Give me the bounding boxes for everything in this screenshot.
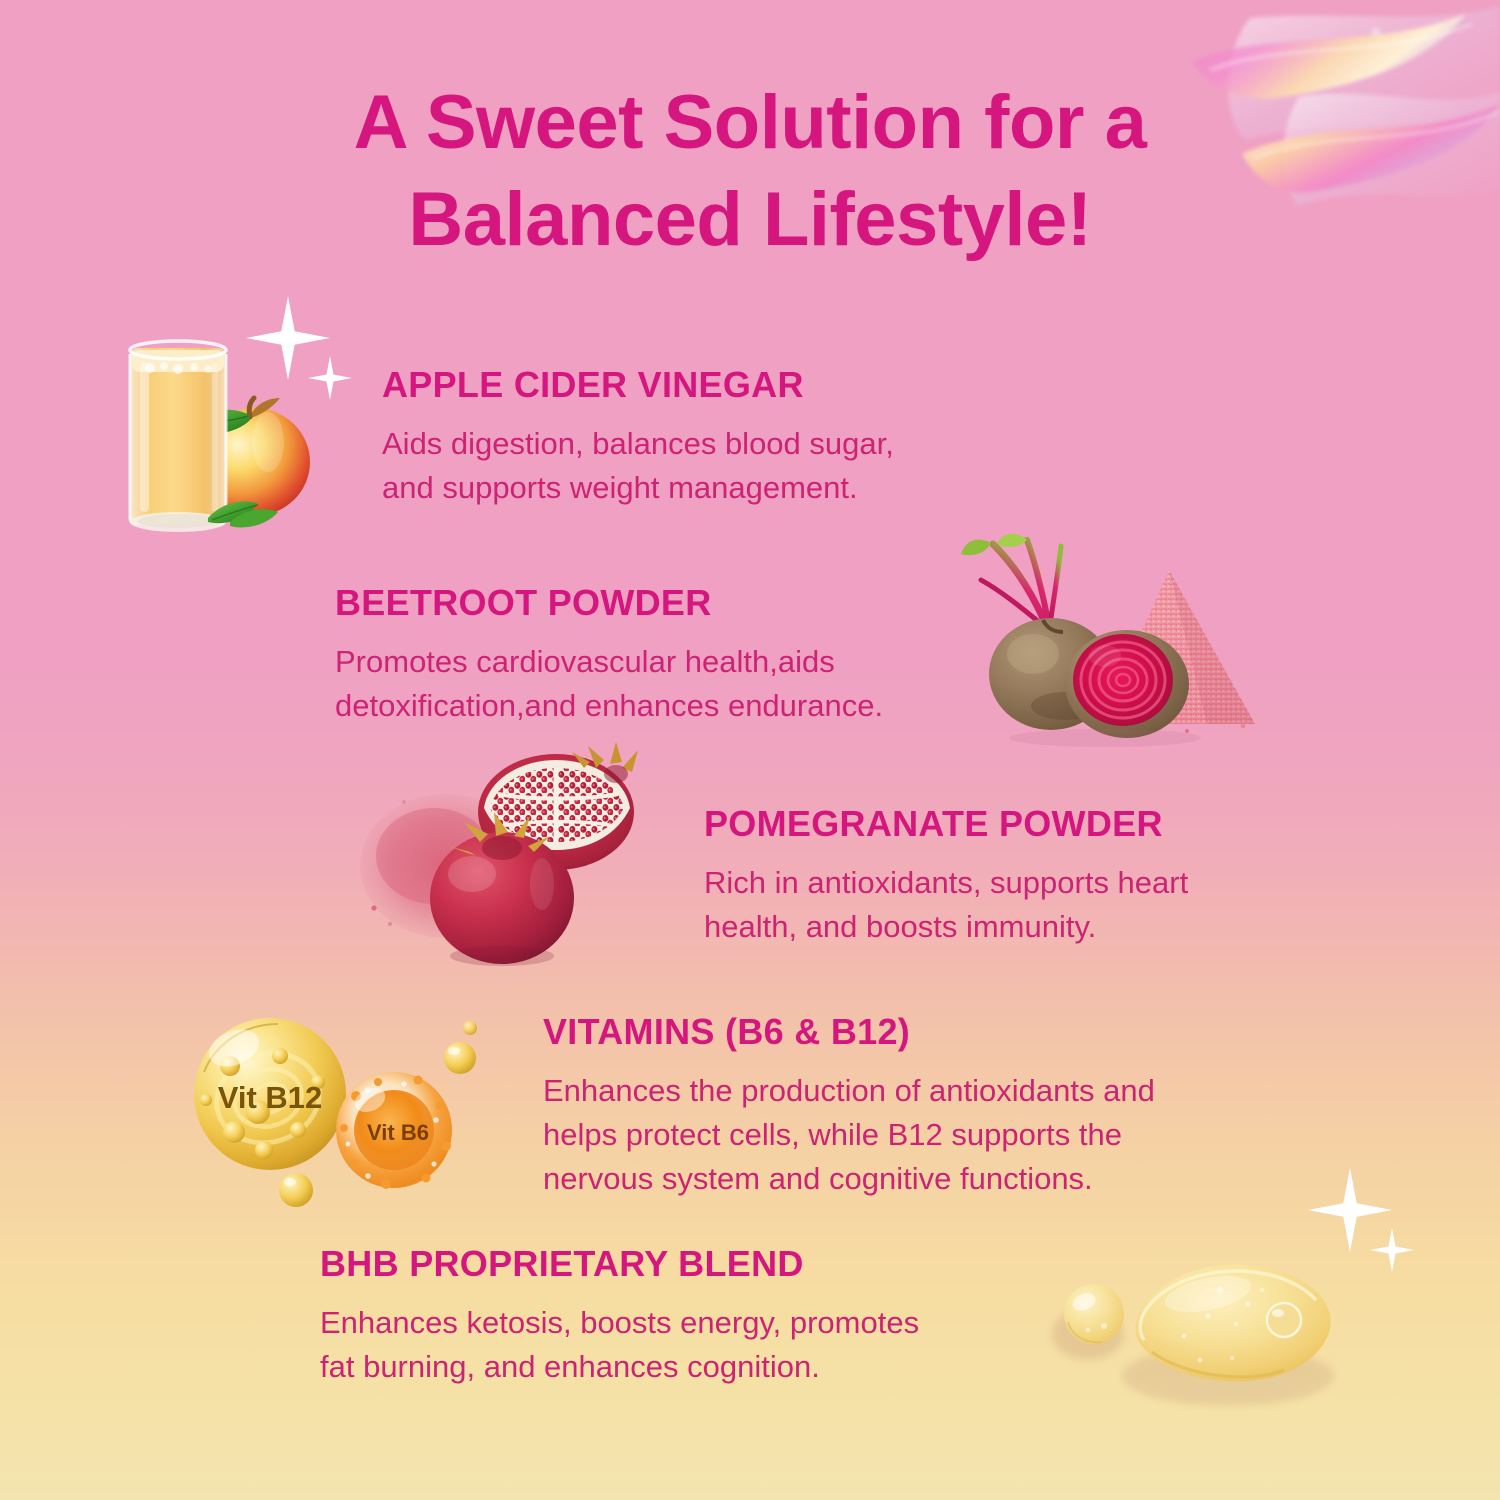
ingredient-pomegranate-powder: POMEGRANATE POWDER Rich in antioxidants,…: [704, 803, 1324, 949]
beetroot-powder-image: [955, 528, 1270, 748]
bhb-golden-serum-drop-image: [1032, 1248, 1352, 1413]
ingredient-bhb-proprietary-blend: BHB PROPRIETARY BLEND Enhances ketosis, …: [320, 1243, 1060, 1389]
ingredient-description: Rich in antioxidants, supports heart hea…: [704, 861, 1324, 949]
ingredient-description: Promotes cardiovascular health,aids deto…: [335, 640, 1035, 728]
ingredient-name: POMEGRANATE POWDER: [704, 803, 1324, 845]
vitamin-capsule-spheres-image: Vit B12: [172, 1012, 492, 1212]
sparkle-small-icon: [1370, 1228, 1414, 1272]
ingredient-name: BHB PROPRIETARY BLEND: [320, 1243, 1060, 1285]
ingredient-name: APPLE CIDER VINEGAR: [382, 364, 1042, 406]
pomegranate-powder-image: [338, 738, 648, 968]
ingredient-description: Enhances ketosis, boosts energy, promote…: [320, 1301, 1060, 1389]
infographic-poster: A Sweet Solution for a Balanced Lifestyl…: [0, 0, 1500, 1500]
ingredient-beetroot-powder: BEETROOT POWDER Promotes cardiovascular …: [335, 582, 1035, 728]
ingredient-description: Aids digestion, balances blood sugar, an…: [382, 422, 1042, 510]
ingredient-vitamins-b6-b12: VITAMINS (B6 & B12) Enhances the product…: [543, 1011, 1303, 1201]
poster-title: A Sweet Solution for a Balanced Lifestyl…: [0, 74, 1500, 268]
ingredient-apple-cider-vinegar: APPLE CIDER VINEGAR Aids digestion, bala…: [382, 364, 1042, 510]
vit-b6-label: Vit B6: [367, 1120, 429, 1145]
ingredient-description: Enhances the production of antioxidants …: [543, 1069, 1303, 1201]
vit-b12-label: Vit B12: [218, 1080, 323, 1115]
ingredient-name: BEETROOT POWDER: [335, 582, 1035, 624]
sparkle-large-icon: [1308, 1168, 1392, 1252]
ingredient-name: VITAMINS (B6 & B12): [543, 1011, 1303, 1053]
apple-cider-vinegar-glass-image: [112, 322, 327, 537]
